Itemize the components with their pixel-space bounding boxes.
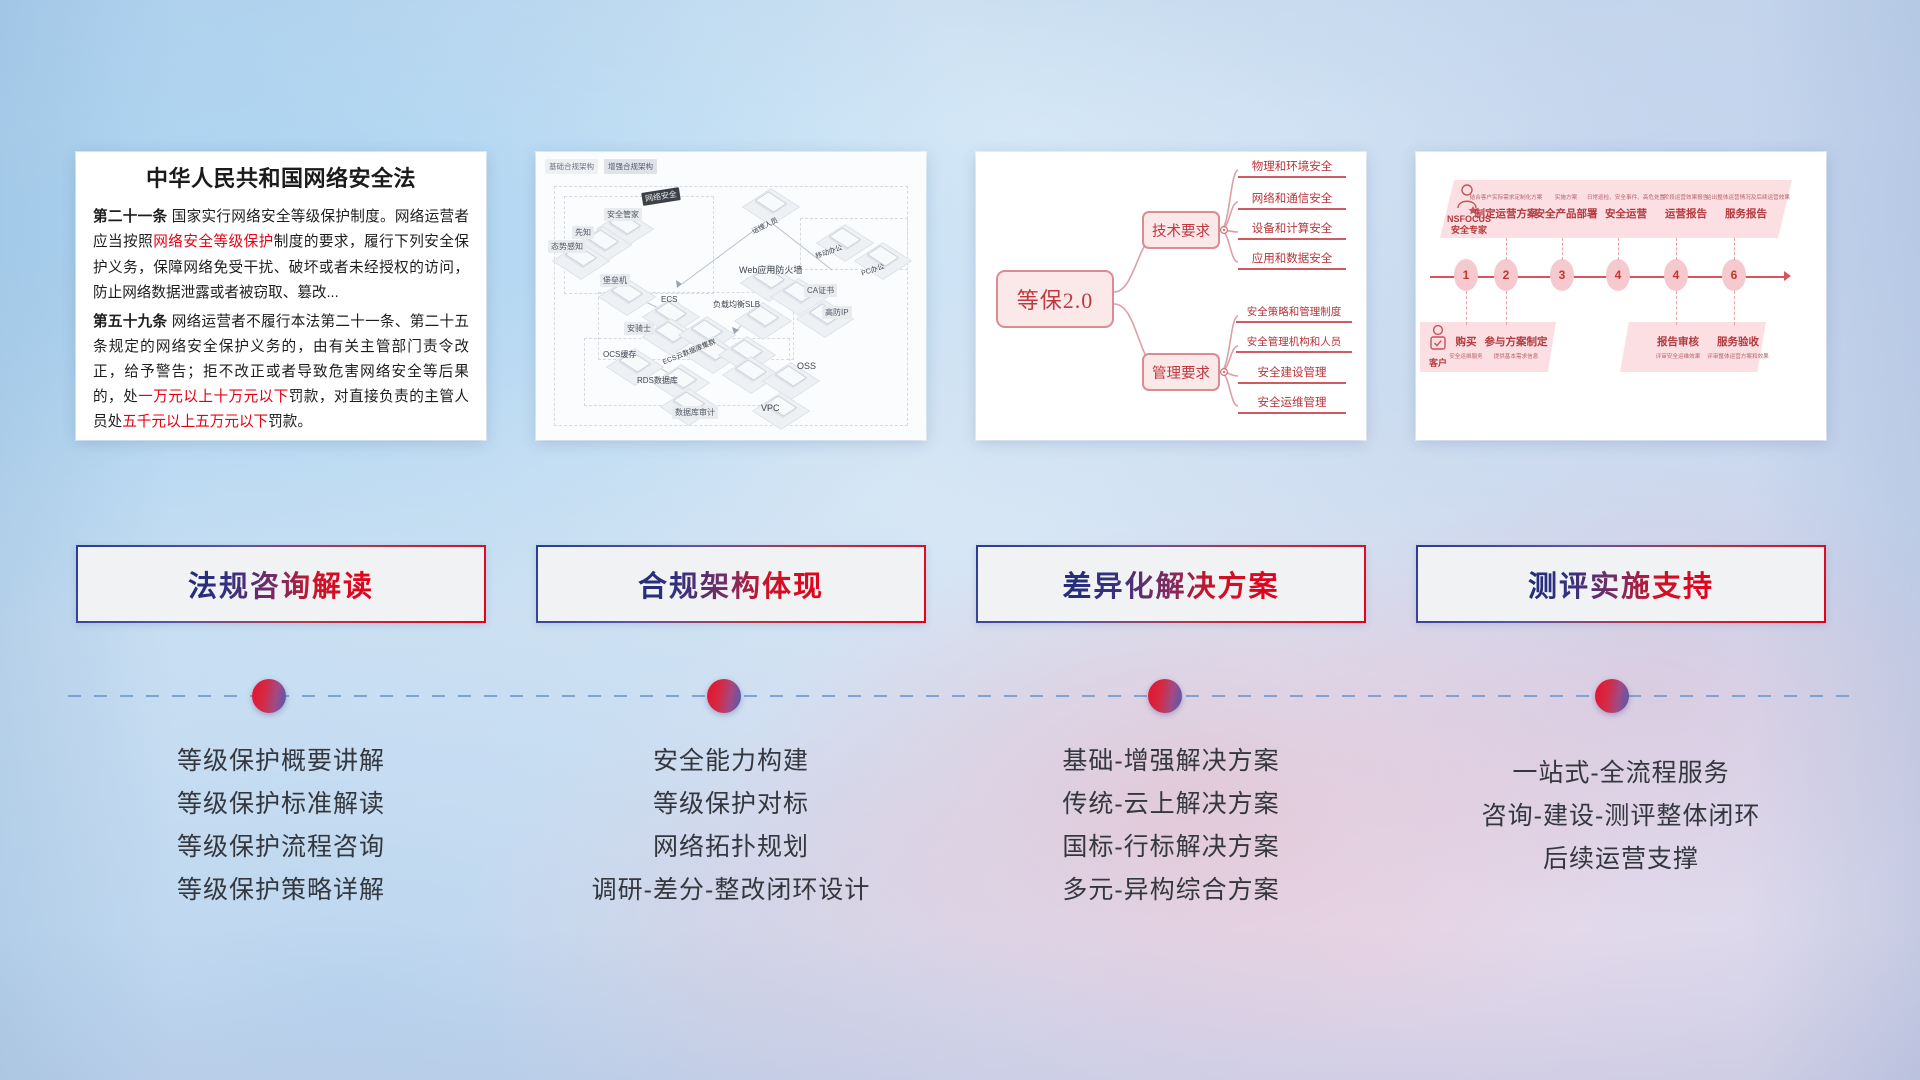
connector-5-up [1676, 238, 1677, 260]
step-5b-title: 报告审核 [1648, 334, 1708, 349]
law-text-body: 中华人民共和国网络安全法 第二十一条 国家实行网络安全等级保护制度。网络运营者应… [76, 152, 486, 440]
label-anti-ddos-ip: 高防IP [822, 306, 852, 319]
step-6-sub: 给出整体运营情况及后续运营效果 [1698, 193, 1798, 201]
article-21-label: 第二十一条 [93, 209, 167, 225]
pill-label-1: 法规咨询解读 [188, 563, 374, 605]
label-anqishi: 安骑士 [624, 322, 654, 335]
bullet-column-3: 基础-增强解决方案 传统-云上解决方案 国标-行标解决方案 多元-异构综合方案 [976, 740, 1366, 912]
bullet-3-3: 国标-行标解决方案 [976, 826, 1366, 869]
label-bastion-host: 堡垒机 [600, 274, 630, 287]
bullet-2-2: 等级保护对标 [536, 783, 926, 826]
card-compliance-architecture[interactable]: 基础合规架构 增强合规架构 [536, 152, 926, 440]
bullet-2-4: 调研-差分-整改闭环设计 [536, 869, 926, 912]
slide-stage: 中华人民共和国网络安全法 第二十一条 国家实行网络安全等级保护制度。网络运营者应… [0, 0, 1920, 1080]
mindmap-leaf-app-data[interactable]: 应用和数据安全 [1238, 250, 1346, 270]
pill-button-assessment-support[interactable]: 测评实施支持 [1416, 545, 1826, 623]
law-article-59: 第五十九条 网络运营者不履行本法第二十一条、第二十五条规定的网络安全保护义务的，… [93, 310, 469, 435]
provider-role: 安全专家 [1451, 225, 1487, 235]
bullet-1-3: 等级保护流程咨询 [76, 826, 486, 869]
bullet-column-4: 一站式-全流程服务 咨询-建设-测评整体闭环 后续运营支撑 [1416, 752, 1826, 881]
mindmap-leaf-device-compute[interactable]: 设备和计算安全 [1238, 220, 1346, 240]
label-xianzhi: 先知 [572, 226, 594, 239]
step-6-title: 服务报告 [1712, 206, 1780, 221]
timeline-dot-3[interactable]: 3 [1550, 259, 1574, 291]
bullet-3-4: 多元-异构综合方案 [976, 869, 1366, 912]
step-2-sub: 结合客户实际需求定制化方案 [1468, 193, 1544, 201]
label-security-butler: 安全管家 [604, 208, 642, 221]
bullet-1-2: 等级保护标准解读 [76, 783, 486, 826]
mindmap-branch-management[interactable]: 管理要求 [1142, 353, 1220, 391]
article-21-highlight: 网络安全等级保护 [153, 234, 273, 250]
timeline-dot-6[interactable]: 6 [1722, 259, 1746, 291]
timeline-dot-1[interactable]: 1 [1454, 259, 1478, 291]
article-59-highlight-1: 一万元以上十万元以下 [138, 389, 289, 405]
card-dengbao-mindmap[interactable]: 等保2.0 技术要求 管理要求 物理和环境安全 网络和通信安全 设备和计算安全 … [976, 152, 1366, 440]
label-slb: 负载均衡SLB [710, 298, 763, 311]
bullet-1-4: 等级保护策略详解 [76, 869, 486, 912]
connector-5-down [1676, 291, 1677, 325]
node-ecs-cluster-d-icon [734, 358, 768, 392]
mindmap-leaf-ops-mgmt[interactable]: 安全运维管理 [1238, 394, 1346, 414]
mindmap-leaf-physical-env[interactable]: 物理和环境安全 [1238, 158, 1346, 178]
bullet-4-2: 咨询-建设-测评整体闭环 [1416, 795, 1826, 838]
pill-label-4: 测评实施支持 [1528, 563, 1714, 605]
bullet-4-1: 一站式-全流程服务 [1416, 752, 1826, 795]
mindmap-leaf-network-comm[interactable]: 网络和通信安全 [1238, 190, 1346, 210]
law-article-21: 第二十一条 国家实行网络安全等级保护制度。网络运营者应当按照网络安全等级保护制度… [93, 205, 469, 305]
label-waf: Web应用防火墙 [736, 262, 805, 277]
service-timeline: NSFOCUS 安全专家 客户 1 2 3 4 4 6 [1416, 152, 1826, 440]
connector-2-up [1506, 238, 1507, 260]
bullet-1-1: 等级保护概要讲解 [76, 740, 486, 783]
mindmap-leaf-policy-system[interactable]: 安全策略和管理制度 [1236, 304, 1352, 323]
step-4-title: 安全运营 [1594, 206, 1658, 221]
mindmap-leaf-org-personnel[interactable]: 安全管理机构和人员 [1236, 334, 1352, 353]
step-5-title: 运营报告 [1652, 206, 1720, 221]
timeline-rail [68, 695, 1852, 697]
article-59-text-c: 罚款。 [268, 414, 312, 430]
timeline-dot-4[interactable]: 4 [1606, 259, 1630, 291]
step-2b-sub: 提供基本需求信息 [1478, 352, 1554, 360]
label-oss: OSS [794, 360, 819, 372]
timeline-dot-5[interactable]: 4 [1664, 259, 1688, 291]
bullet-3-2: 传统-云上解决方案 [976, 783, 1366, 826]
bullet-column-2: 安全能力构建 等级保护对标 网络拓扑规划 调研-差分-整改闭环设计 [536, 740, 926, 912]
bullet-2-1: 安全能力构建 [536, 740, 926, 783]
timeline-node-2[interactable] [707, 679, 741, 713]
label-situation-awareness: 态势感知 [548, 240, 586, 253]
bullet-3-1: 基础-增强解决方案 [976, 740, 1366, 783]
card-service-timeline[interactable]: NSFOCUS 安全专家 客户 1 2 3 4 4 6 [1416, 152, 1826, 440]
mindmap-branch-technical[interactable]: 技术要求 [1142, 211, 1220, 249]
label-rds-database: RDS数据库 [634, 374, 681, 387]
label-ecs: ECS [658, 294, 680, 305]
article-59-highlight-2: 五千元以上五万元以下 [122, 414, 268, 430]
step-6b-sub: 评审整体运营方案和效果 [1698, 352, 1778, 360]
bullet-column-1: 等级保护概要讲解 等级保护标准解读 等级保护流程咨询 等级保护策略详解 [76, 740, 486, 912]
connector-6-up [1734, 238, 1735, 260]
pill-label-2: 合规架构体现 [638, 563, 824, 605]
mindmap-leaf-construction-mgmt[interactable]: 安全建设管理 [1238, 364, 1346, 384]
card-cybersecurity-law[interactable]: 中华人民共和国网络安全法 第二十一条 国家实行网络安全等级保护制度。网络运营者应… [76, 152, 486, 440]
label-ca-certificate: CA证书 [804, 284, 837, 297]
timeline-arrow-head [1784, 271, 1791, 281]
label-database-audit: 数据库审计 [672, 406, 718, 419]
connector-4-up [1618, 238, 1619, 260]
pill-label-3: 差异化解决方案 [1062, 563, 1279, 605]
bullet-4-3: 后续运营支撑 [1416, 838, 1826, 881]
timeline-node-3[interactable] [1148, 679, 1182, 713]
mindmap: 等保2.0 技术要求 管理要求 物理和环境安全 网络和通信安全 设备和计算安全 … [976, 152, 1366, 440]
label-ocs-cache: OCS缓存 [600, 348, 639, 361]
architecture-diagram: 基础合规架构 增强合规架构 [536, 152, 926, 440]
connector-3-up [1562, 238, 1563, 260]
connector-2-down [1506, 291, 1507, 325]
article-59-label: 第五十九条 [93, 314, 167, 330]
timeline-node-1[interactable] [252, 679, 286, 713]
pill-button-compliance-architecture[interactable]: 合规架构体现 [536, 545, 926, 623]
pill-button-regulation-consulting[interactable]: 法规咨询解读 [76, 545, 486, 623]
architecture-connector-lines [536, 152, 926, 440]
mindmap-root-node[interactable]: 等保2.0 [996, 270, 1114, 328]
label-vpc: VPC [758, 402, 783, 414]
timeline-node-4[interactable] [1595, 679, 1629, 713]
connector-1 [1466, 291, 1467, 325]
bullet-2-3: 网络拓扑规划 [536, 826, 926, 869]
timeline-dot-2[interactable]: 2 [1494, 259, 1518, 291]
connector-6-down [1734, 291, 1735, 325]
pill-button-differentiated-solution[interactable]: 差异化解决方案 [976, 545, 1366, 623]
step-2b-title: 参与方案制定 [1478, 334, 1554, 349]
step-6b-title: 服务验收 [1708, 334, 1768, 349]
law-title: 中华人民共和国网络安全法 [93, 166, 469, 192]
